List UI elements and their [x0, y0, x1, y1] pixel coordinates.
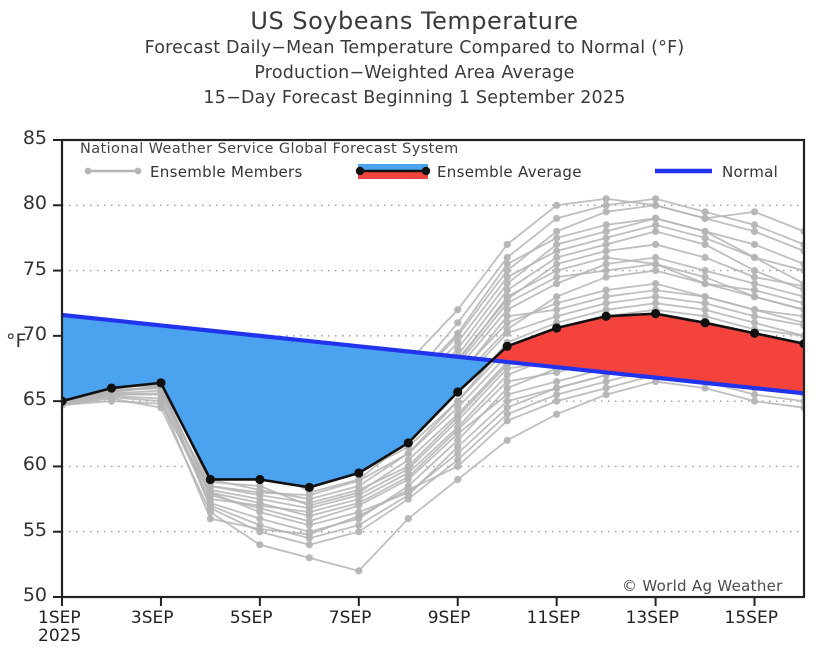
legend-source: National Weather Service Global Forecast… — [80, 141, 459, 157]
legend-average-label: Ensemble Average — [437, 163, 582, 181]
watermark: © World Ag Weather — [622, 577, 783, 595]
chart-page: US Soybeans Temperature Forecast Daily−M… — [0, 0, 829, 649]
members-swatch — [85, 168, 142, 175]
average-swatch — [356, 164, 430, 179]
chart-svg — [0, 0, 829, 649]
plot-area — [0, 0, 829, 649]
legend-members-label: Ensemble Members — [150, 163, 303, 181]
legend-swatches — [0, 160, 829, 200]
legend-normal-label: Normal — [722, 163, 778, 181]
